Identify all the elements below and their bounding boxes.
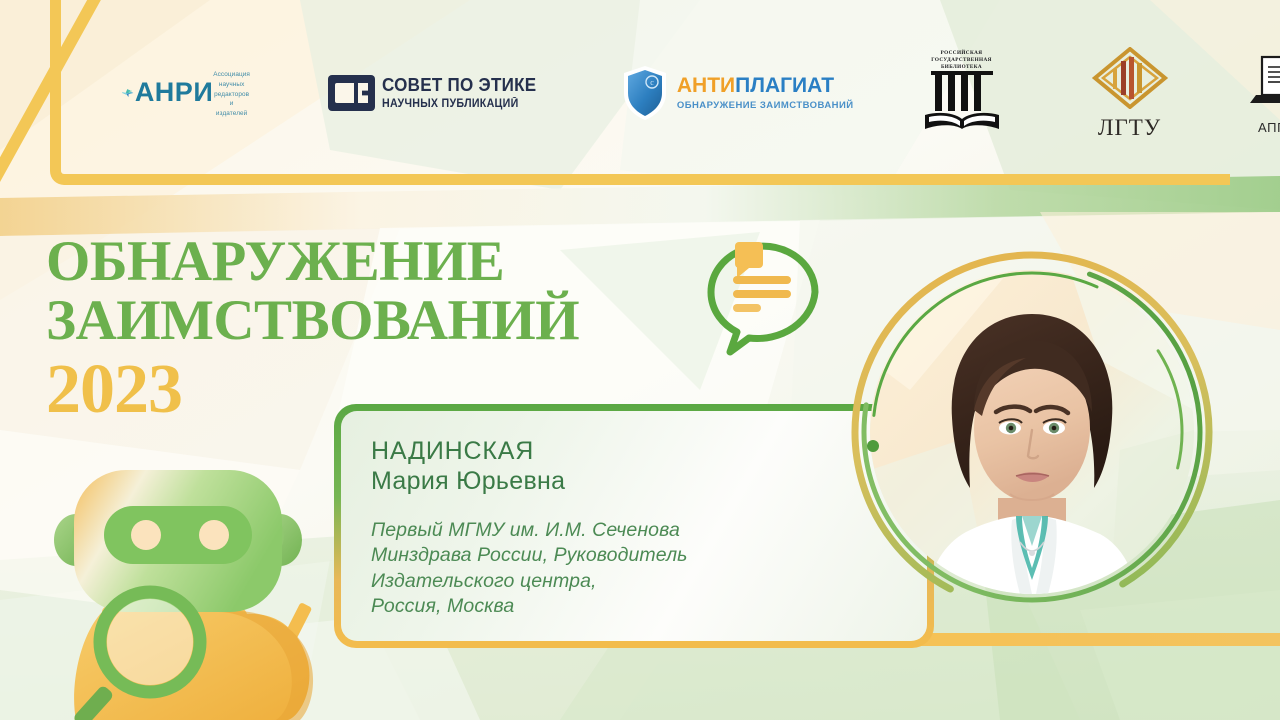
speaker-affiliation-line3: Издательского центра, xyxy=(371,569,897,594)
rgb-title-line1: РОССИЙСКАЯ xyxy=(916,50,1008,57)
title-line-1: ОБНАРУЖЕНИЕ xyxy=(46,232,579,291)
logo-sovet-po-etike: СОВЕТ ПО ЭТИКЕ НАУЧНЫХ ПУБЛИКАЦИЙ xyxy=(328,75,550,111)
speaker-affiliation-line2: Минздрава России, Руководитель xyxy=(371,543,897,568)
sovet-se-mark-icon xyxy=(328,75,375,111)
anri-wordmark: АНРИ xyxy=(135,79,213,106)
antiplagiat-tagline: ОБНАРУЖЕНИЕ ЗАИМСТВОВАНИЙ xyxy=(677,100,854,111)
svg-text:c: c xyxy=(650,78,654,87)
speaker-info-card: НАДИНСКАЯ Мария Юрьевна Первый МГМУ им. … xyxy=(334,404,934,648)
anri-star-icon xyxy=(120,71,135,115)
slide-title: ОБНАРУЖЕНИЕ ЗАИМСТВОВАНИЙ 2023 xyxy=(46,232,579,426)
anri-tagline-line2: редакторов и издателей xyxy=(213,90,250,119)
appoer-wordmark: АППОЭР xyxy=(1242,121,1280,134)
lgtu-wordmark: ЛГТУ xyxy=(1082,116,1178,139)
anri-tagline-line1: Ассоциация научных xyxy=(213,70,250,89)
speaker-card-border: НАДИНСКАЯ Мария Юрьевна Первый МГМУ им. … xyxy=(334,404,934,648)
antiplagiat-wordmark: АНТИПЛАГИАТ xyxy=(677,75,854,96)
logo-antiplagiat: c АНТИПЛАГИАТ ОБНАРУЖЕНИЕ ЗАИМСТВОВАНИЙ xyxy=(622,65,854,121)
sovet-title-line2: НАУЧНЫХ ПУБЛИКАЦИЙ xyxy=(382,98,536,110)
speaker-last-name: НАДИНСКАЯ xyxy=(371,437,897,467)
rgb-title: РОССИЙСКАЯ ГОСУДАРСТВЕННАЯ БИБЛИОТЕКА xyxy=(916,50,1008,71)
speaker-affiliation-line4: Россия, Москва xyxy=(371,594,897,619)
lgtu-diamond-icon xyxy=(1091,47,1169,109)
speaker-affiliation-line1: Первый МГМУ им. И.М. Сеченова xyxy=(371,518,897,543)
antiplagiat-shield-icon: c xyxy=(622,65,668,121)
speaker-portrait xyxy=(848,248,1216,616)
rgb-title-line3: БИБЛИОТЕКА xyxy=(916,64,1008,71)
title-year: 2023 xyxy=(46,353,579,427)
logo-rgb: РОССИЙСКАЯ ГОСУДАРСТВЕННАЯ БИБЛИОТЕКА xyxy=(916,50,1008,136)
logo-appoer: АППОЭР xyxy=(1242,53,1280,134)
robot-mascot-icon xyxy=(42,462,372,720)
portrait-decorative-rings xyxy=(848,248,1216,616)
rgb-title-line2: ГОСУДАРСТВЕННАЯ xyxy=(916,57,1008,64)
appoer-laptop-book-icon xyxy=(1248,53,1280,115)
rgb-columns-book-icon xyxy=(923,71,1001,131)
speech-bubble-search-icon xyxy=(697,234,837,366)
anri-tagline: Ассоциация научных редакторов и издателе… xyxy=(213,70,250,118)
speaker-affiliation: Первый МГМУ им. И.М. Сеченова Минздрава … xyxy=(371,518,897,619)
partner-logo-strip: АНРИ Ассоциация научных редакторов и изд… xyxy=(120,38,1210,148)
antiplagiat-word-part1: АНТИ xyxy=(677,74,735,97)
speaker-first-name: Мария Юрьевна xyxy=(371,467,897,497)
presentation-slide: АНРИ Ассоциация научных редакторов и изд… xyxy=(0,0,1280,720)
title-line-2: ЗАИМСТВОВАНИЙ xyxy=(46,291,579,350)
sovet-title-line1: СОВЕТ ПО ЭТИКЕ xyxy=(382,76,536,95)
speaker-card-content: НАДИНСКАЯ Мария Юрьевна Первый МГМУ им. … xyxy=(341,411,927,641)
logo-anri: АНРИ Ассоциация научных редакторов и изд… xyxy=(120,67,250,118)
logo-lgtu: ЛГТУ xyxy=(1082,47,1178,139)
antiplagiat-word-part2: ПЛАГИАТ xyxy=(735,74,834,97)
